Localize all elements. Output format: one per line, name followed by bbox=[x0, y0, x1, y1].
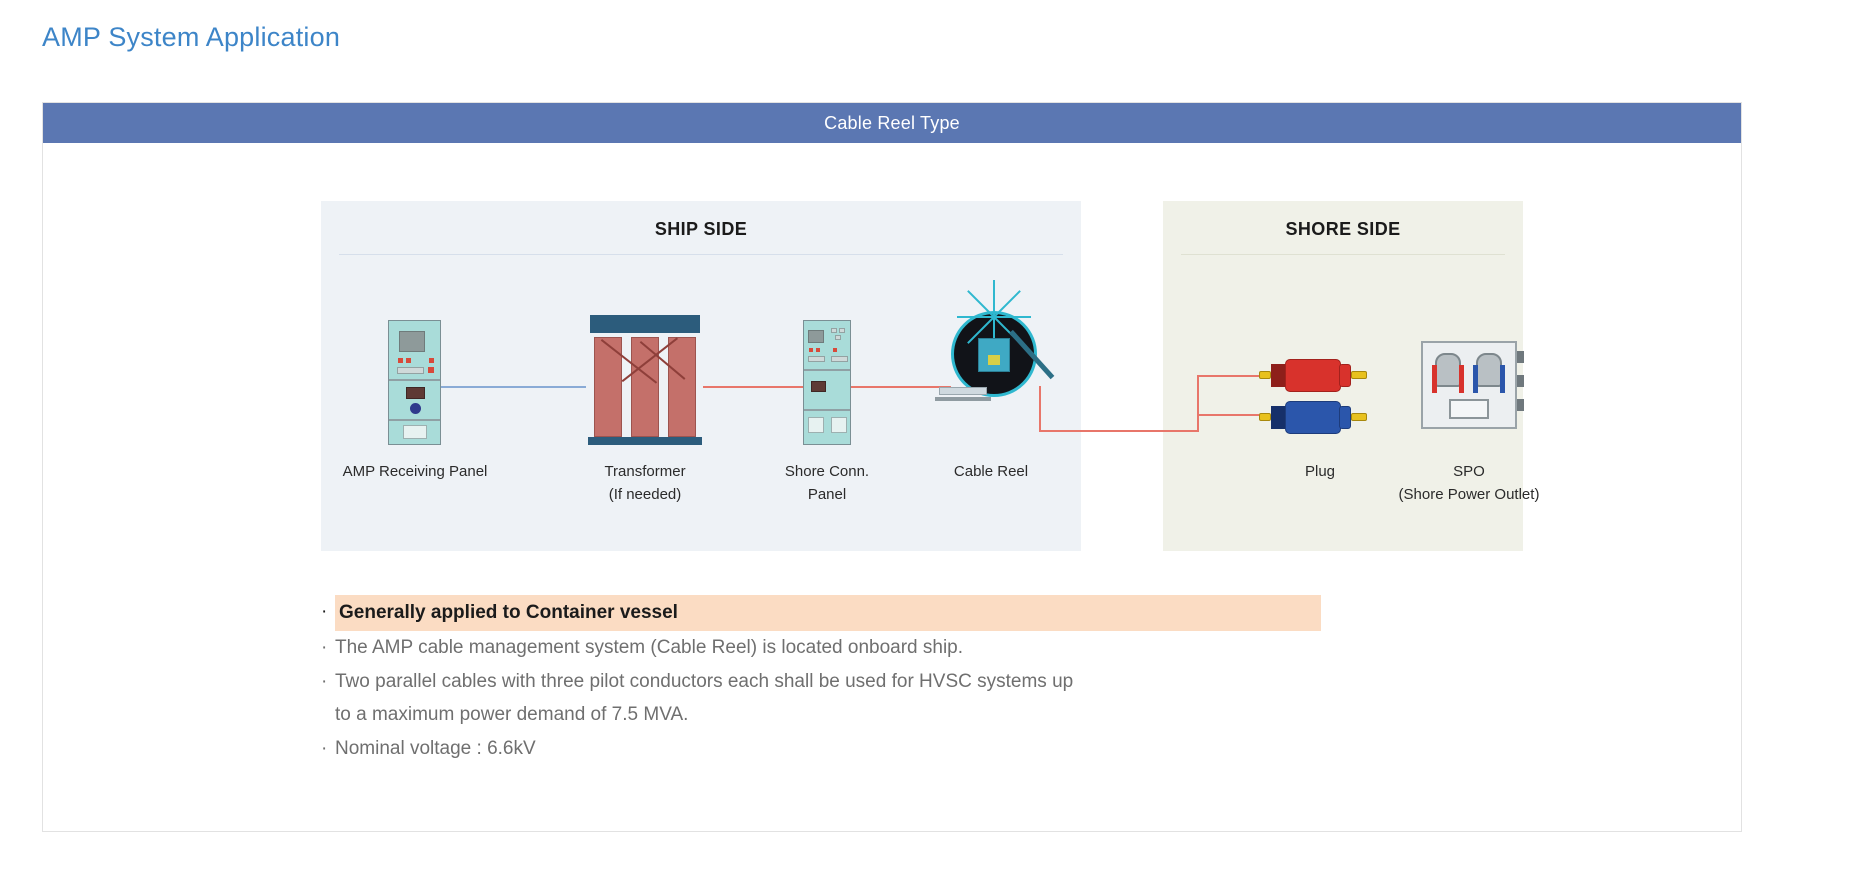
bullet-marker-icon: · bbox=[321, 631, 335, 665]
note-text: Two parallel cables with three pilot con… bbox=[335, 665, 1081, 733]
amp-panel-keypad bbox=[397, 367, 424, 374]
spo-tab-2 bbox=[1517, 375, 1524, 387]
cable-reel-hub-core bbox=[988, 355, 1000, 365]
spo-caption-line2: (Shore Power Outlet) bbox=[1369, 484, 1569, 507]
ship-side-title: SHIP SIDE bbox=[321, 201, 1081, 240]
wire-red-transformer-to-panel bbox=[703, 386, 813, 388]
spo-socket-left-rail-red-1 bbox=[1432, 365, 1437, 393]
spo-display bbox=[1449, 399, 1489, 419]
shore-panel-led-1 bbox=[809, 348, 813, 352]
shore-panel-keypad-2 bbox=[831, 356, 848, 362]
shore-panel-relay-2 bbox=[839, 328, 845, 333]
shore-panel-seam-2 bbox=[804, 409, 850, 411]
spo-icon bbox=[1421, 341, 1536, 456]
amp-receiving-panel-icon bbox=[388, 320, 441, 445]
spo-socket-right-rail-blue-1 bbox=[1473, 365, 1478, 393]
shore-conn-panel-icon bbox=[803, 320, 851, 445]
shore-panel-led-3 bbox=[833, 348, 837, 352]
amp-receiving-panel-caption: AMP Receiving Panel bbox=[315, 461, 515, 484]
shore-panel-seam bbox=[804, 369, 850, 371]
note-text: The AMP cable management system (Cable R… bbox=[335, 631, 1321, 665]
plug-red-ribs bbox=[1271, 364, 1285, 387]
plug-blue-ribs bbox=[1271, 406, 1285, 429]
note-text: Nominal voltage : 6.6kV bbox=[335, 732, 1321, 766]
transformer-caption-line1: Transformer bbox=[545, 461, 745, 484]
amp-panel-led-4 bbox=[428, 367, 434, 373]
cable-reel-base bbox=[935, 397, 991, 401]
bullet-marker-icon: · bbox=[321, 665, 335, 699]
note-item: · Generally applied to Container vessel bbox=[321, 595, 1321, 631]
bullet-marker-icon: · bbox=[321, 595, 335, 629]
content-card: Cable Reel Type SHIP SIDE SHORE SIDE bbox=[42, 102, 1742, 832]
transformer-top-bar bbox=[590, 315, 700, 333]
spo-tab-3 bbox=[1517, 399, 1524, 411]
note-item: · Two parallel cables with three pilot c… bbox=[321, 665, 1081, 733]
wire-red-panel-to-reel bbox=[851, 386, 951, 388]
wire-red-shore-riser bbox=[1197, 375, 1199, 432]
note-item: · Nominal voltage : 6.6kV bbox=[321, 732, 1321, 766]
wire-red-shore-bottom-branch bbox=[1197, 414, 1259, 416]
spo-caption-line1: SPO bbox=[1369, 461, 1569, 484]
cable-reel-icon bbox=[951, 311, 1081, 451]
amp-panel-seam-2 bbox=[389, 419, 440, 421]
shore-panel-breaker bbox=[811, 381, 826, 392]
plug-red-body bbox=[1285, 359, 1341, 392]
plug-red-cap bbox=[1339, 364, 1351, 387]
shore-side-divider bbox=[1181, 254, 1505, 255]
amp-panel-breaker bbox=[406, 387, 425, 399]
amp-panel-vent bbox=[403, 425, 427, 439]
transformer-caption-line2: (If needed) bbox=[545, 484, 745, 507]
shore-panel-keypad-1 bbox=[808, 356, 825, 362]
plug-red-tip-right bbox=[1351, 371, 1367, 379]
transformer-base bbox=[588, 437, 702, 445]
spo-socket-left bbox=[1435, 353, 1461, 387]
shore-panel-relay-3 bbox=[835, 335, 841, 340]
wire-blue-amp-to-transformer bbox=[441, 386, 586, 388]
amp-panel-led-1 bbox=[398, 358, 403, 363]
shore-panel-relay-1 bbox=[831, 328, 837, 333]
spo-socket-left-rail-red-2 bbox=[1459, 365, 1464, 393]
plug-caption-line1: Plug bbox=[1305, 463, 1335, 480]
spo-tab-1 bbox=[1517, 351, 1524, 363]
bullet-marker-icon: · bbox=[321, 732, 335, 766]
cable-reel-spoke-5 bbox=[993, 280, 995, 317]
ship-side-divider bbox=[339, 254, 1063, 255]
transformer-coil-3 bbox=[668, 337, 696, 437]
shore-panel-caption-line2: Panel bbox=[727, 484, 927, 507]
amp-panel-led-3 bbox=[429, 358, 434, 363]
shore-panel-vent-2 bbox=[831, 417, 847, 433]
page-title: AMP System Application bbox=[42, 22, 340, 53]
plug-red-tip-left bbox=[1259, 371, 1271, 379]
note-item: · The AMP cable management system (Cable… bbox=[321, 631, 1321, 665]
shore-side-title: SHORE SIDE bbox=[1163, 201, 1523, 240]
plug-blue-tip-left bbox=[1259, 413, 1271, 421]
transformer-caption: Transformer (If needed) bbox=[545, 461, 745, 506]
amp-panel-knob bbox=[410, 403, 421, 414]
cable-reel-foot bbox=[939, 387, 987, 395]
page-root: AMP System Application Cable Reel Type S… bbox=[0, 0, 1851, 869]
plug-icon bbox=[1259, 355, 1379, 455]
wire-red-shore-top-branch bbox=[1197, 375, 1259, 377]
amp-panel-seam bbox=[389, 379, 440, 381]
amp-panel-screen bbox=[399, 331, 425, 352]
cable-reel-spoke-7 bbox=[994, 316, 1031, 318]
amp-panel-caption-line1: AMP Receiving Panel bbox=[343, 463, 488, 480]
card-banner: Cable Reel Type bbox=[43, 103, 1741, 143]
cable-reel-caption: Cable Reel bbox=[891, 461, 1091, 484]
amp-panel-led-2 bbox=[406, 358, 411, 363]
shore-panel-led-2 bbox=[816, 348, 820, 352]
spo-caption: SPO (Shore Power Outlet) bbox=[1369, 461, 1569, 506]
cable-reel-spoke-3 bbox=[957, 316, 994, 318]
card-body: SHIP SIDE SHORE SIDE bbox=[43, 143, 1741, 831]
cable-reel-caption-line1: Cable Reel bbox=[954, 463, 1028, 480]
transformer-icon bbox=[586, 315, 704, 445]
spo-socket-right-rail-blue-2 bbox=[1500, 365, 1505, 393]
plug-blue-tip-right bbox=[1351, 413, 1367, 421]
plug-blue-cap bbox=[1339, 406, 1351, 429]
shore-panel-vent-1 bbox=[808, 417, 824, 433]
shore-panel-screen bbox=[808, 330, 824, 343]
spo-socket-right bbox=[1476, 353, 1502, 387]
notes-list: · Generally applied to Container vessel … bbox=[321, 595, 1321, 766]
plug-blue-body bbox=[1285, 401, 1341, 434]
card-banner-title: Cable Reel Type bbox=[824, 113, 960, 134]
note-text: Generally applied to Container vessel bbox=[339, 602, 678, 623]
